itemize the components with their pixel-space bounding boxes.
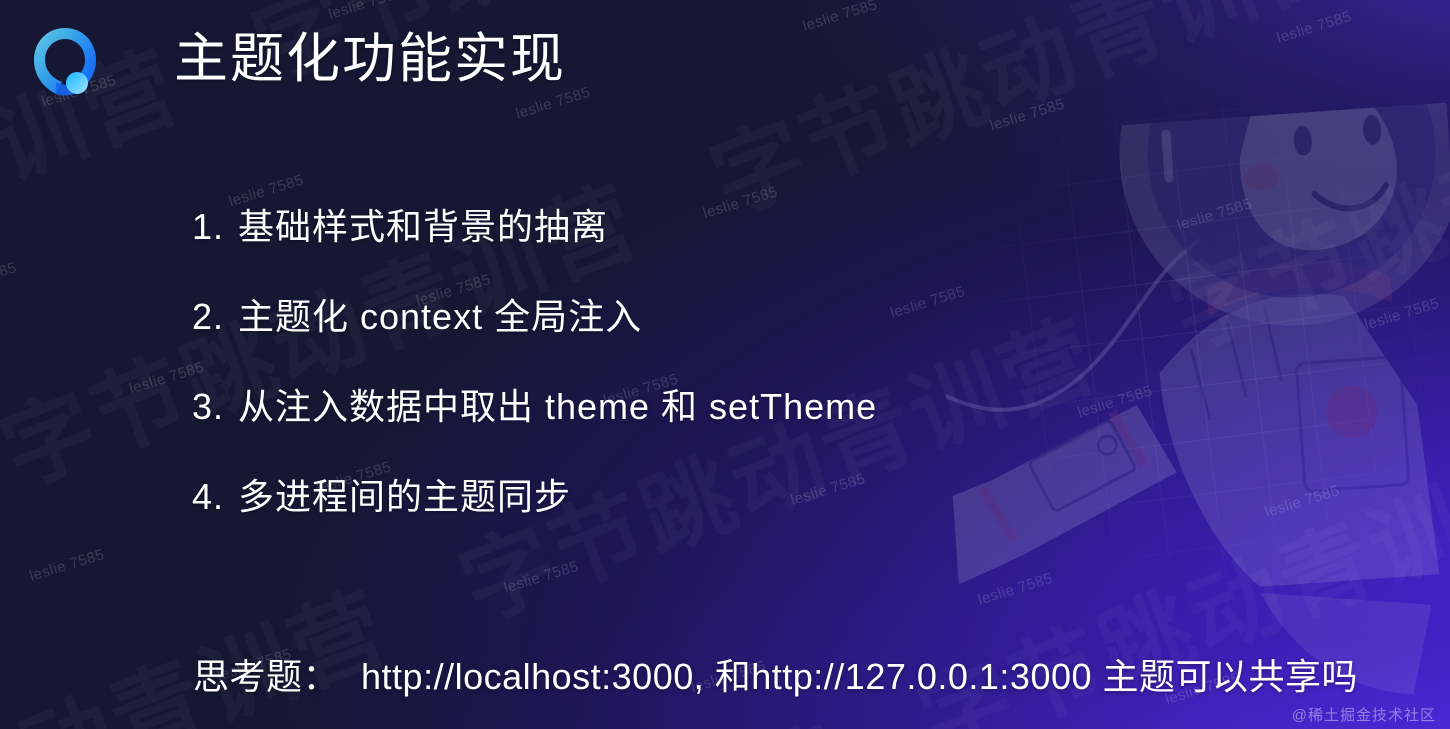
- slide-canvas: 字节跳动青训营 字节跳动青训营 字节跳动青训营 字节跳动青训营 字节跳动青训营 …: [0, 0, 1450, 729]
- question-line: 思考题： http://localhost:3000, 和http://127.…: [193, 648, 1358, 700]
- list-item-number: 4.: [192, 476, 238, 518]
- list-item-number: 3.: [192, 386, 238, 428]
- list-item: 4. 多进程间的主题同步: [192, 468, 1312, 558]
- content-list: 1. 基础样式和背景的抽离 2. 主题化 context 全局注入 3. 从注入…: [192, 198, 1312, 558]
- list-item-label: 基础样式和背景的抽离: [238, 198, 608, 250]
- question-label: 思考题：: [193, 648, 339, 700]
- list-item-number: 1.: [192, 206, 238, 248]
- list-item-label: 主题化 context 全局注入: [238, 288, 642, 340]
- list-item: 1. 基础样式和背景的抽离: [192, 198, 1312, 288]
- list-item-label: 多进程间的主题同步: [238, 468, 571, 520]
- question-text: http://localhost:3000, 和http://127.0.0.1…: [361, 648, 1358, 700]
- list-item-number: 2.: [192, 296, 238, 338]
- list-item: 3. 从注入数据中取出 theme 和 setTheme: [192, 378, 1312, 468]
- juejin-logo-icon: [30, 26, 100, 100]
- list-item-label: 从注入数据中取出 theme 和 setTheme: [238, 378, 877, 430]
- community-credit: @稀土掘金技术社区: [1292, 704, 1436, 725]
- list-item: 2. 主题化 context 全局注入: [192, 288, 1312, 378]
- page-title: 主题化功能实现: [174, 24, 566, 94]
- slide-header: 主题化功能实现: [0, 0, 1450, 130]
